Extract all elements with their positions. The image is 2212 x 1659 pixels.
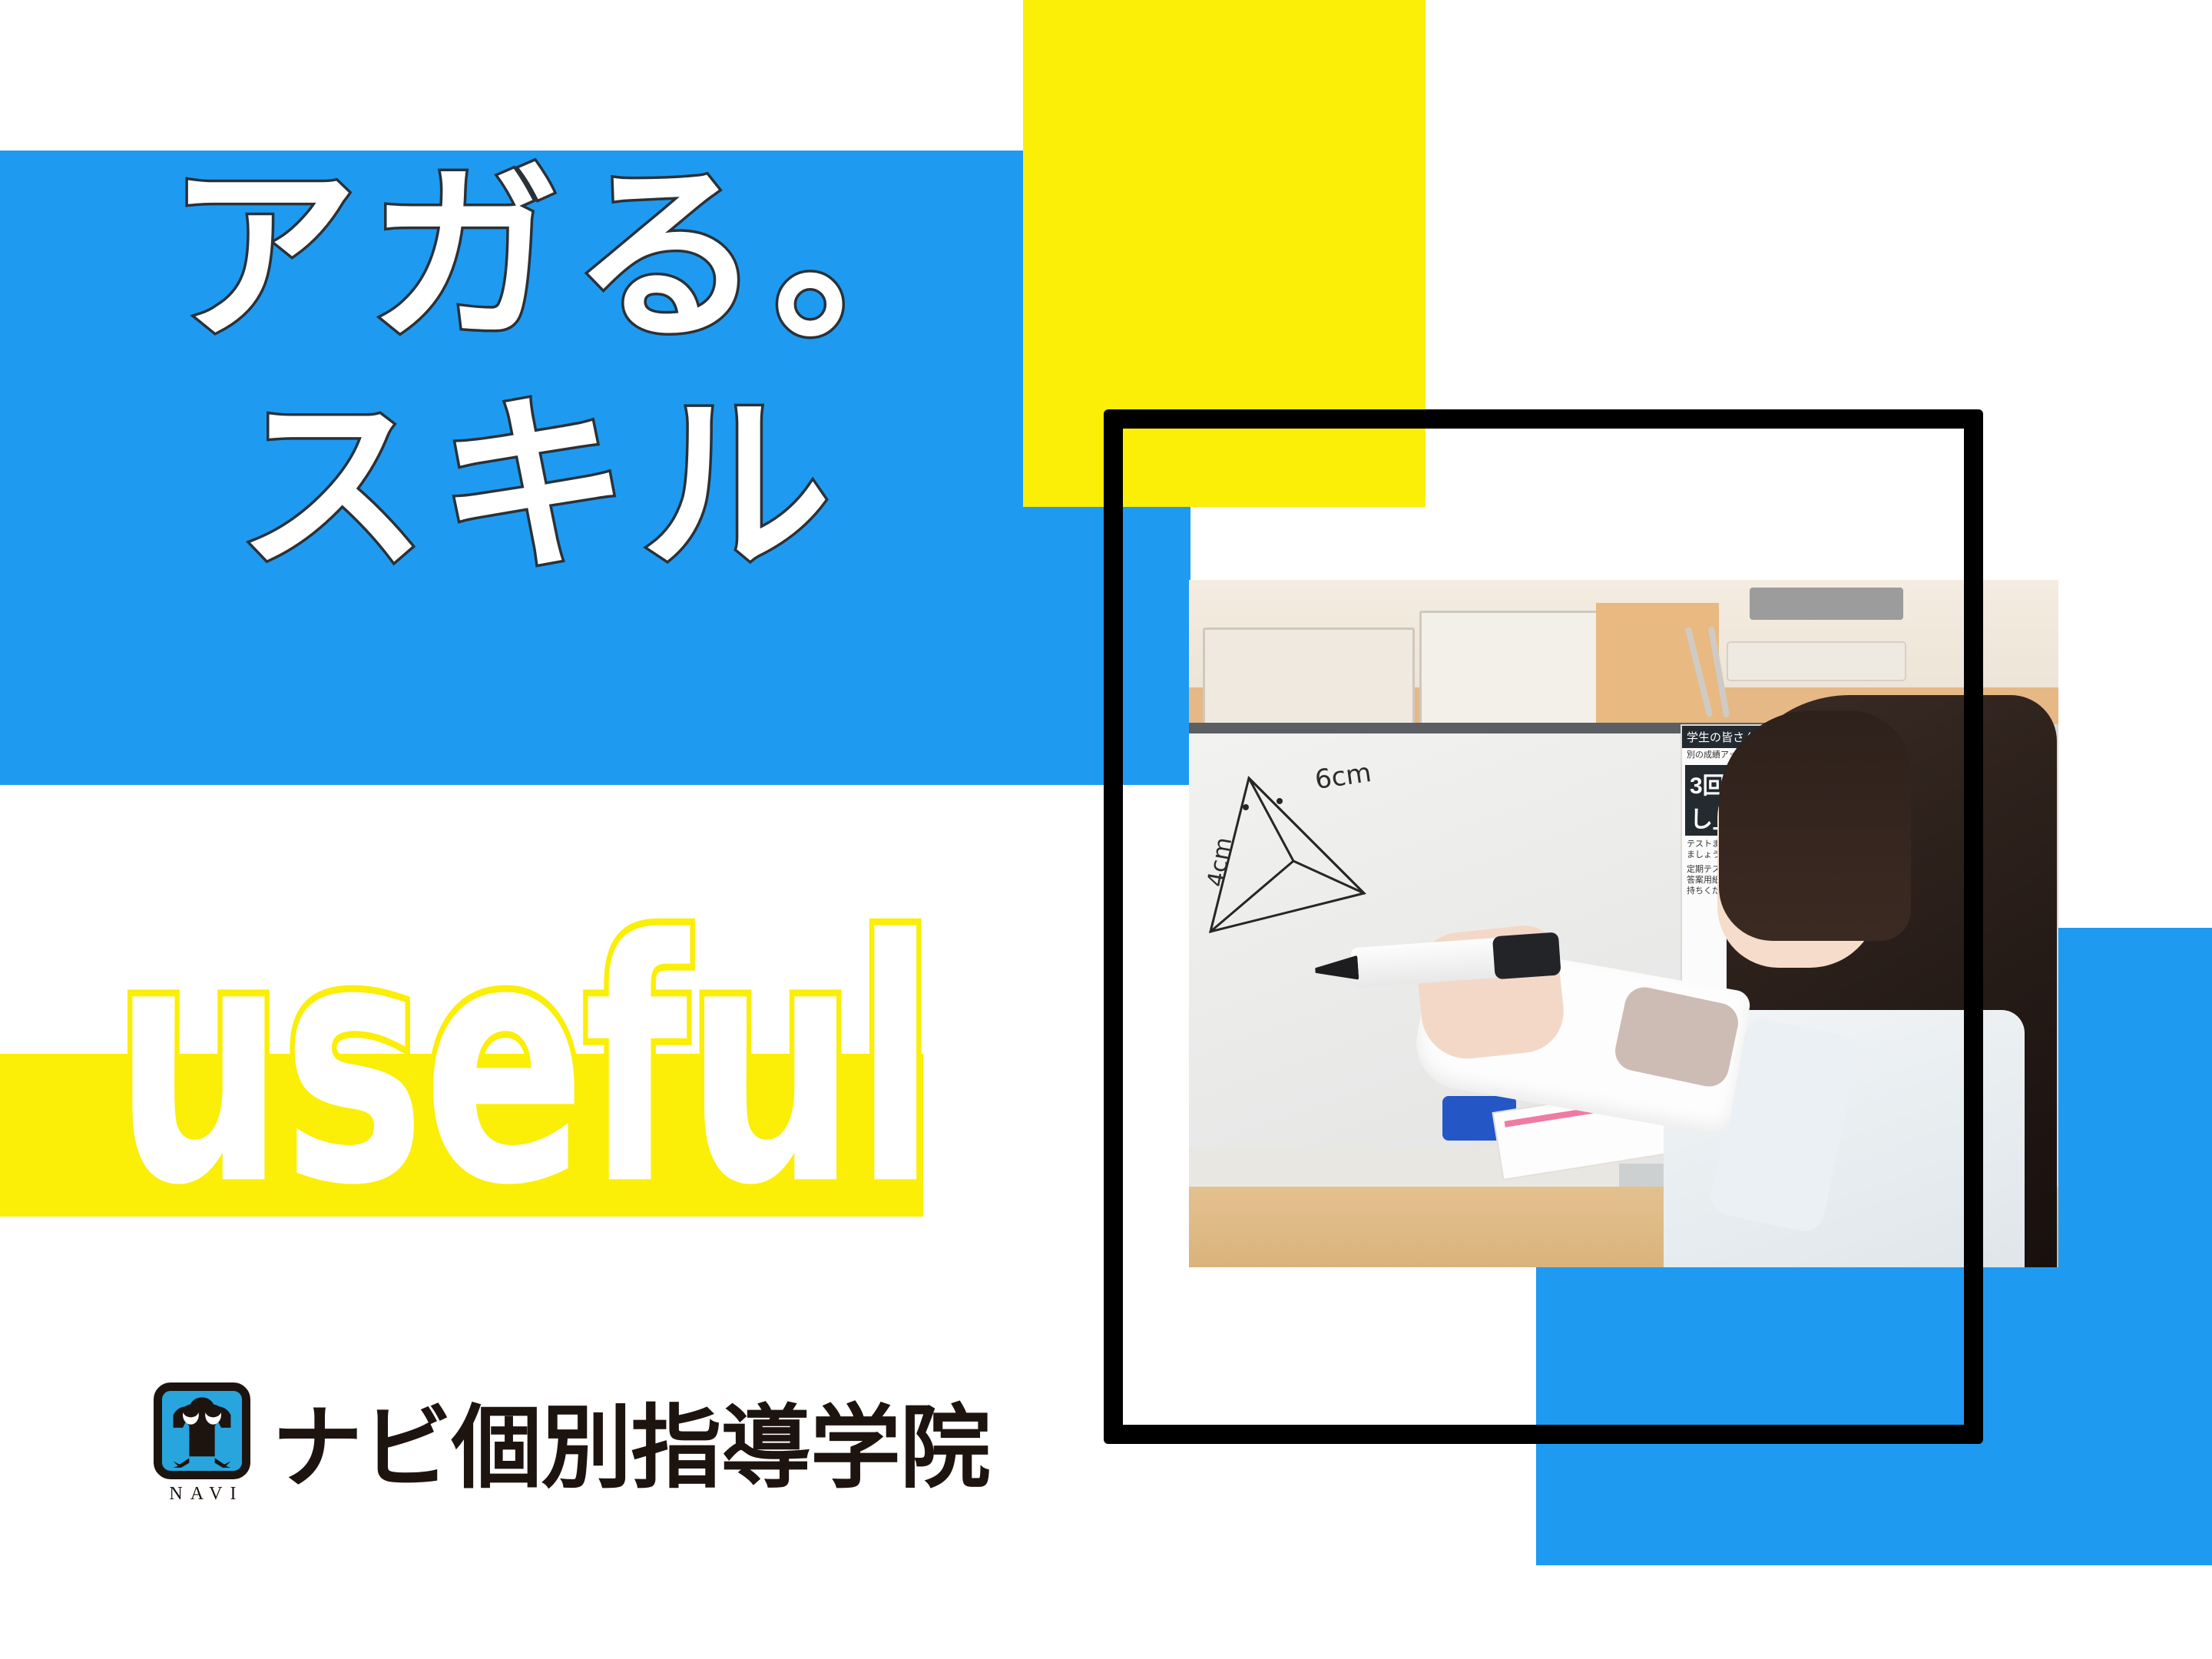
navi-mascot-icon [154, 1382, 250, 1479]
photo-black-frame [1104, 409, 1983, 1444]
navi-mark-caption: NAVI [154, 1484, 253, 1505]
useful-wordmark: useful [114, 897, 934, 1231]
navi-logo-mark: NAVI [154, 1382, 253, 1513]
navi-logo-wordmark: ナビ個別指導学院 [272, 1402, 990, 1493]
blue-headline-panel [0, 151, 1190, 785]
poster-canvas: アガる。 スキル useful [0, 0, 2212, 1659]
brand-logo: NAVI ナビ個別指導学院 [154, 1382, 990, 1513]
